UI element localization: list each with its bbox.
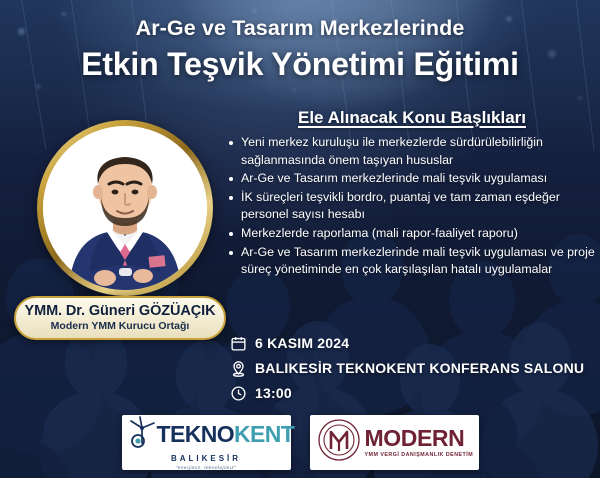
page-title: Etkin Teşvik Yönetimi Eğitimi [0, 46, 600, 83]
header-line-1: Ar-Ge ve Tasarım Merkezlerinde [0, 16, 600, 41]
topics-title: Ele Alınacak Konu Başlıkları [228, 108, 596, 128]
speaker-photo-frame [37, 120, 213, 296]
avatar [43, 126, 207, 290]
event-time: 13:00 [255, 385, 292, 401]
teknokent-subtitle: BALIKESİR [127, 454, 286, 463]
teknokent-tagline: "enerjimiz, teknolojimiz" [127, 465, 286, 470]
modern-wordmark: MODERN [365, 427, 474, 450]
teknokent-logo-main: TEKNO KENT [127, 416, 286, 453]
speaker-name: YMM. Dr. Güneri GÖZÜAÇIK [25, 304, 216, 319]
location-pin-icon [228, 358, 248, 378]
modern-subtitle: YMM VERGİ DANIŞMANLIK DENETİM [365, 452, 474, 458]
speaker-role: Modern YMM Kurucu Ortağı [51, 321, 190, 332]
list-item: Ar-Ge ve Tasarım merkezlerinde mali teşv… [228, 244, 596, 279]
speaker-portrait-illustration [43, 126, 207, 290]
event-date-row: 6 KASIM 2024 [228, 333, 600, 353]
event-date: 6 KASIM 2024 [255, 335, 349, 351]
teknokent-word-part2: KENT [234, 423, 294, 446]
calendar-icon [228, 333, 248, 353]
event-location-row: BALIKESİR TEKNOKENT KONFERANS SALONU [228, 358, 600, 378]
clock-icon [228, 383, 248, 403]
topics-list: Yeni merkez kuruluşu ile merkezlerde sür… [228, 134, 596, 279]
topics-section: Ele Alınacak Konu Başlıkları Yeni merkez… [228, 108, 596, 280]
event-details: 6 KASIM 2024 BALIKESİR TEKNOKENT KONFERA… [228, 333, 600, 408]
modern-logo: MODERN YMM VERGİ DANIŞMANLIK DENETİM [310, 415, 479, 470]
event-location: BALIKESİR TEKNOKENT KONFERANS SALONU [255, 360, 584, 376]
list-item: Ar-Ge ve Tasarım merkezlerinde mali teşv… [228, 170, 596, 188]
event-poster: Ar-Ge ve Tasarım Merkezlerinde Etkin Teş… [0, 0, 600, 478]
wind-turbine-icon [127, 416, 157, 453]
list-item: Yeni merkez kuruluşu ile merkezlerde sür… [228, 134, 596, 169]
m-monogram-icon [316, 417, 362, 468]
teknokent-wordmark: TEKNO KENT [157, 423, 295, 446]
event-time-row: 13:00 [228, 383, 600, 403]
sponsor-logos: TEKNO KENT BALIKESİR "enerjimiz, teknolo… [0, 415, 600, 470]
poster-header: Ar-Ge ve Tasarım Merkezlerinde Etkin Teş… [0, 0, 600, 83]
list-item: Merkezlerde raporlama (mali rapor-faaliy… [228, 225, 596, 243]
teknokent-word-part1: TEKNO [157, 423, 235, 446]
list-item: İK süreçleri teşvikli bordro, puantaj ve… [228, 189, 596, 224]
teknokent-logo: TEKNO KENT BALIKESİR "enerjimiz, teknolo… [122, 415, 291, 470]
speaker-name-plaque: YMM. Dr. Güneri GÖZÜAÇIK Modern YMM Kuru… [14, 296, 226, 340]
